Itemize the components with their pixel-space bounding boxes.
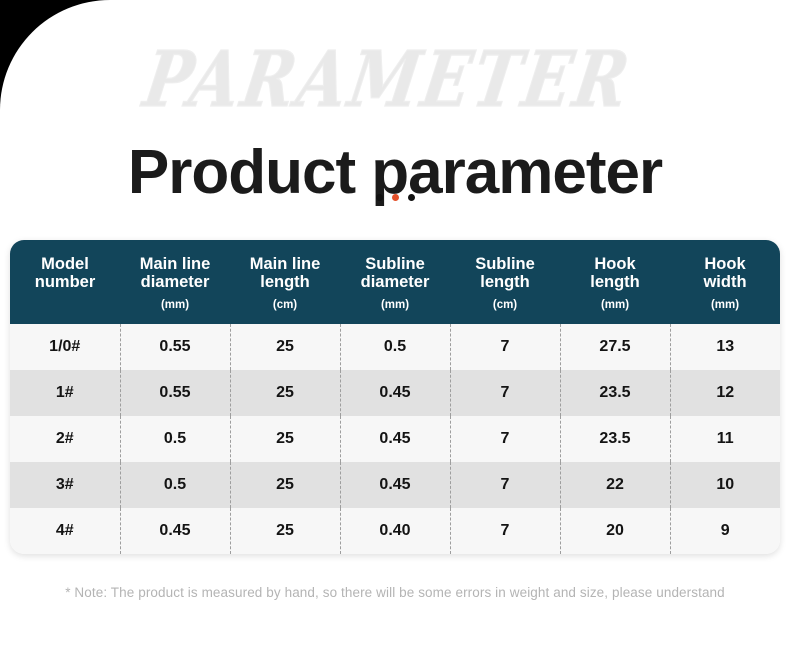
cell-hook-length: 27.5 bbox=[560, 324, 670, 370]
col-header-main-line-diameter: Main line diameter (mm) bbox=[120, 240, 230, 324]
table-row: 1/0# 0.55 25 0.5 7 27.5 13 bbox=[10, 324, 780, 370]
col-header-line2: length bbox=[260, 273, 310, 291]
col-header-line2: number bbox=[35, 273, 96, 291]
cell-hook-length: 23.5 bbox=[560, 370, 670, 416]
col-header-line1: Hook bbox=[594, 255, 635, 273]
col-header-unit: (mm) bbox=[122, 299, 228, 312]
cell-main-line-diameter: 0.45 bbox=[120, 508, 230, 554]
cell-hook-width: 12 bbox=[670, 370, 780, 416]
cell-model: 4# bbox=[10, 508, 120, 554]
col-header-line2: length bbox=[590, 273, 640, 291]
dot-center-accent-icon bbox=[392, 194, 399, 201]
table-row: 1# 0.55 25 0.45 7 23.5 12 bbox=[10, 370, 780, 416]
table-row: 3# 0.5 25 0.45 7 22 10 bbox=[10, 462, 780, 508]
cell-main-line-length: 25 bbox=[230, 462, 340, 508]
footnote: * Note: The product is measured by hand,… bbox=[0, 585, 790, 600]
dot-separator bbox=[0, 194, 790, 201]
cell-main-line-diameter: 0.55 bbox=[120, 324, 230, 370]
cell-hook-length: 23.5 bbox=[560, 416, 670, 462]
cell-hook-length: 22 bbox=[560, 462, 670, 508]
col-header-subline-diameter: Subline diameter (mm) bbox=[340, 240, 450, 324]
table-header-row: Model number Main line diameter (mm) Mai… bbox=[10, 240, 780, 324]
cell-hook-width: 11 bbox=[670, 416, 780, 462]
col-header-line1: Subline bbox=[365, 255, 425, 273]
table-header: Model number Main line diameter (mm) Mai… bbox=[10, 240, 780, 324]
col-header-model-number: Model number bbox=[10, 240, 120, 324]
cell-hook-length: 20 bbox=[560, 508, 670, 554]
dot-right-icon bbox=[408, 194, 415, 201]
table-body: 1/0# 0.55 25 0.5 7 27.5 13 1# 0.55 25 0.… bbox=[10, 324, 780, 554]
table-row: 4# 0.45 25 0.40 7 20 9 bbox=[10, 508, 780, 554]
col-header-main-line-length: Main line length (cm) bbox=[230, 240, 340, 324]
cell-hook-width: 13 bbox=[670, 324, 780, 370]
cell-hook-width: 9 bbox=[670, 508, 780, 554]
cell-main-line-length: 25 bbox=[230, 508, 340, 554]
cell-subline-length: 7 bbox=[450, 324, 560, 370]
cell-model: 1/0# bbox=[10, 324, 120, 370]
col-header-hook-length: Hook length (mm) bbox=[560, 240, 670, 324]
col-header-unit: (mm) bbox=[672, 299, 778, 312]
col-header-line1: Main line bbox=[250, 255, 321, 273]
cell-subline-length: 7 bbox=[450, 462, 560, 508]
content-card: PARAMETER Product parameter Model number bbox=[0, 0, 790, 652]
hero-section: PARAMETER Product parameter bbox=[0, 0, 790, 228]
cell-main-line-length: 25 bbox=[230, 416, 340, 462]
table-row: 2# 0.5 25 0.45 7 23.5 11 bbox=[10, 416, 780, 462]
cell-subline-length: 7 bbox=[450, 508, 560, 554]
cell-subline-diameter: 0.45 bbox=[340, 416, 450, 462]
cell-main-line-length: 25 bbox=[230, 370, 340, 416]
cell-main-line-diameter: 0.55 bbox=[120, 370, 230, 416]
cell-subline-length: 7 bbox=[450, 370, 560, 416]
cell-subline-diameter: 0.40 bbox=[340, 508, 450, 554]
col-header-hook-width: Hook width (mm) bbox=[670, 240, 780, 324]
parameter-table-container: Model number Main line diameter (mm) Mai… bbox=[10, 240, 780, 554]
cell-subline-diameter: 0.5 bbox=[340, 324, 450, 370]
col-header-unit: (mm) bbox=[562, 299, 668, 312]
dot-left-icon bbox=[376, 194, 383, 201]
col-header-unit: (cm) bbox=[452, 299, 558, 312]
cell-model: 2# bbox=[10, 416, 120, 462]
cell-model: 3# bbox=[10, 462, 120, 508]
col-header-line1: Hook bbox=[704, 255, 745, 273]
col-header-line1: Subline bbox=[475, 255, 535, 273]
col-header-line1: Main line bbox=[140, 255, 211, 273]
col-header-line2: width bbox=[703, 273, 746, 291]
cell-hook-width: 10 bbox=[670, 462, 780, 508]
cell-main-line-diameter: 0.5 bbox=[120, 462, 230, 508]
col-header-line2: diameter bbox=[361, 273, 430, 291]
col-header-line2: length bbox=[480, 273, 530, 291]
col-header-subline-length: Subline length (cm) bbox=[450, 240, 560, 324]
parameter-table: Model number Main line diameter (mm) Mai… bbox=[10, 240, 780, 554]
page-root: PARAMETER Product parameter Model number bbox=[0, 0, 790, 652]
col-header-unit: (mm) bbox=[342, 299, 448, 312]
col-header-line1: Model bbox=[41, 255, 89, 273]
cell-subline-diameter: 0.45 bbox=[340, 462, 450, 508]
cell-subline-length: 7 bbox=[450, 416, 560, 462]
cell-main-line-diameter: 0.5 bbox=[120, 416, 230, 462]
col-header-line2: diameter bbox=[141, 273, 210, 291]
cell-main-line-length: 25 bbox=[230, 324, 340, 370]
col-header-unit: (cm) bbox=[232, 299, 338, 312]
cell-model: 1# bbox=[10, 370, 120, 416]
cell-subline-diameter: 0.45 bbox=[340, 370, 450, 416]
watermark-text: PARAMETER bbox=[0, 34, 790, 124]
